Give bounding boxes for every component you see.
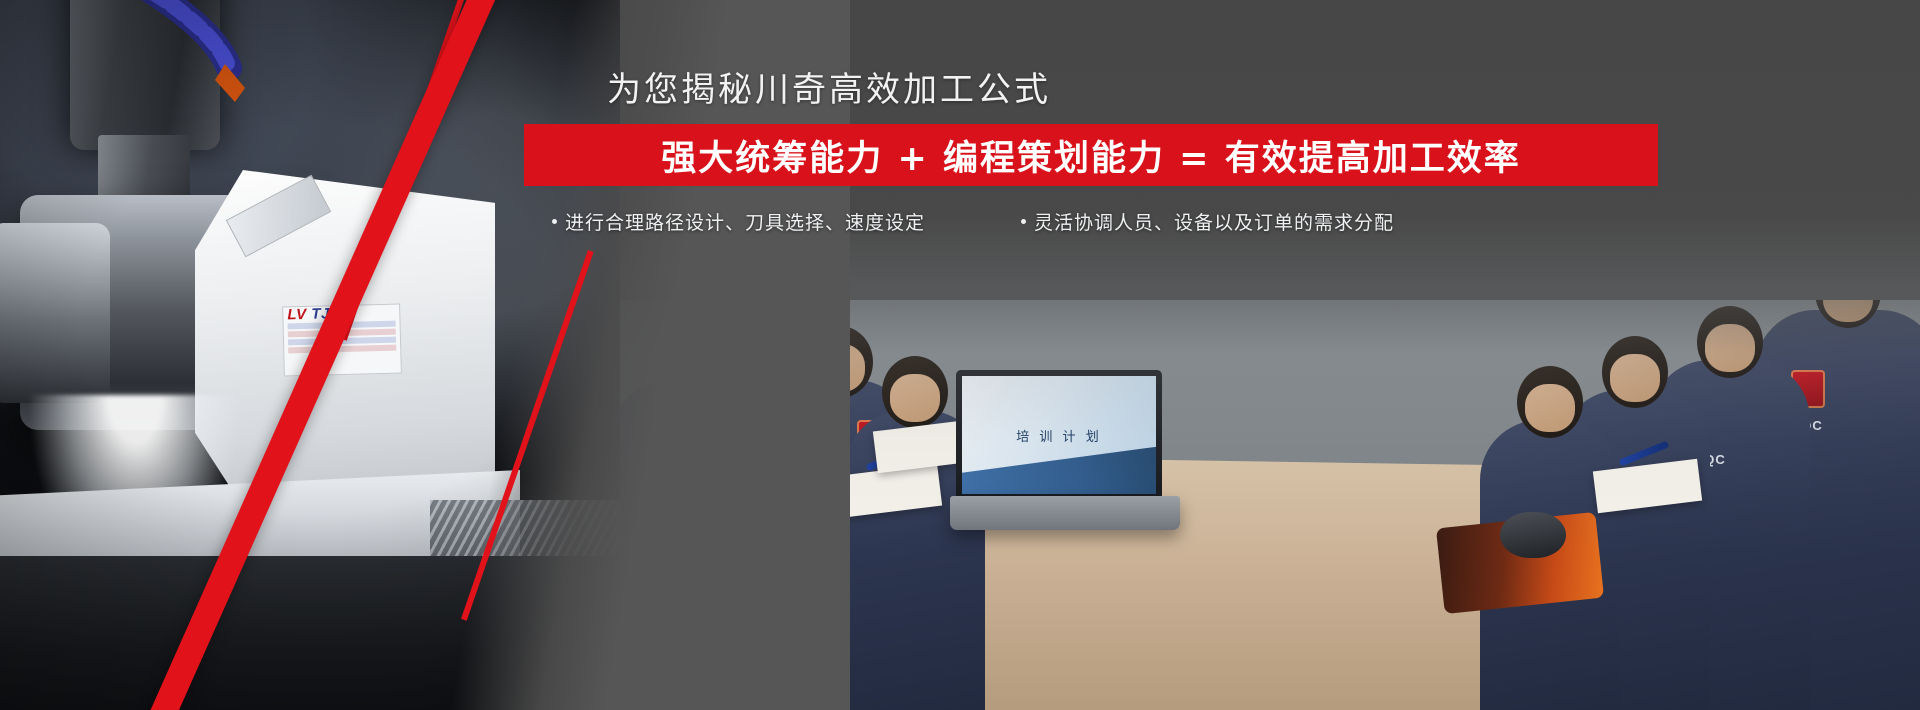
formula-red-bar: 强大统筹能力 + 编程策划能力 = 有效提高加工效率 [524, 124, 1658, 186]
bullet-label: 灵活协调人员、设备以及订单的需求分配 [1034, 208, 1394, 235]
bullet-item-1: 进行合理路径设计、刀具选择、速度设定 [552, 208, 925, 235]
promo-banner: LV TJ IPQ [0, 0, 1920, 710]
banner-headline: 为您揭秘川奇高效加工公式 [0, 62, 1658, 111]
bullet-label: 进行合理路径设计、刀具选择、速度设定 [565, 208, 925, 235]
bullet-list: 进行合理路径设计、刀具选择、速度设定 灵活协调人员、设备以及订单的需求分配 [524, 204, 1658, 238]
bullet-item-2: 灵活协调人员、设备以及订单的需求分配 [1021, 208, 1394, 235]
bullet-dot-icon [1021, 219, 1026, 224]
formula-text: 强大统筹能力 + 编程策划能力 = 有效提高加工效率 [661, 130, 1520, 181]
bullet-dot-icon [552, 219, 557, 224]
banner-content: 为您揭秘川奇高效加工公式 强大统筹能力 + 编程策划能力 = 有效提高加工效率 … [0, 0, 1920, 710]
